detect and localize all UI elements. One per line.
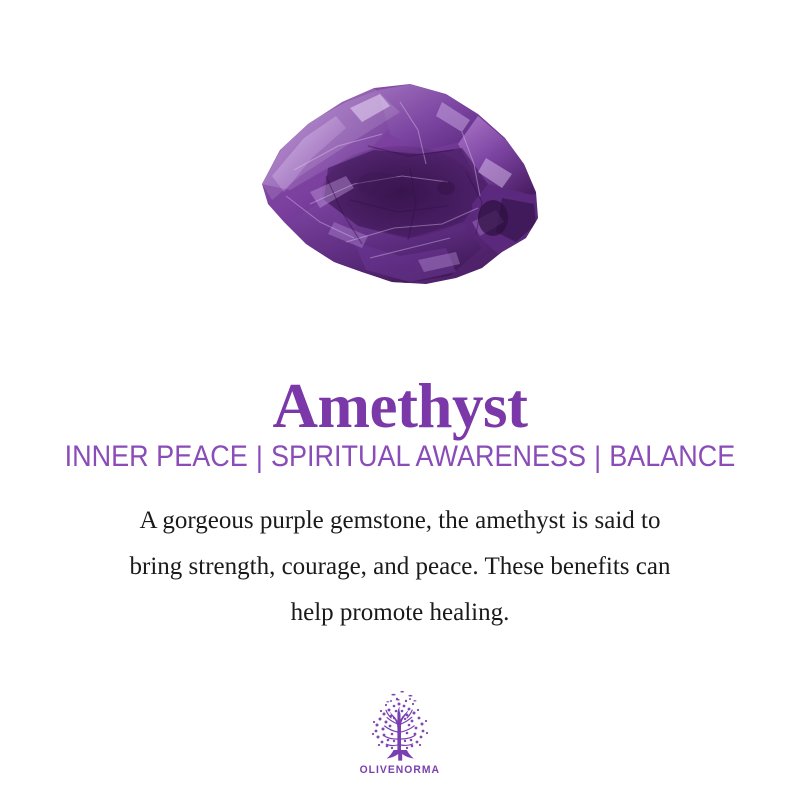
keyword-subtitle: INNER PEACE|SPIRITUAL AWARENESS|BALANCE: [40, 440, 760, 473]
brand-footer: OLIVENORMA: [0, 690, 800, 776]
keyword-separator: |: [594, 441, 601, 474]
keyword-separator: |: [256, 441, 263, 474]
keyword-inner-peace: INNER PEACE: [65, 440, 248, 473]
amethyst-info-card: Amethyst INNER PEACE|SPIRITUAL AWARENESS…: [0, 0, 800, 800]
amethyst-raw-crystal-icon: [250, 72, 550, 294]
brand-name: OLIVENORMA: [360, 764, 440, 776]
tree-of-life-icon: [361, 690, 439, 762]
description-line: A gorgeous purple gemstone, the amethyst…: [50, 498, 750, 544]
description-line: bring strength, courage, and peace. Thes…: [50, 544, 750, 590]
keyword-spiritual-awareness: SPIRITUAL AWARENESS: [271, 440, 586, 473]
page-title: Amethyst: [0, 375, 800, 438]
description-text: A gorgeous purple gemstone, the amethyst…: [50, 498, 750, 636]
product-image-container: [0, 72, 800, 302]
keyword-balance: BALANCE: [609, 440, 735, 473]
description-line: help promote healing.: [50, 590, 750, 636]
